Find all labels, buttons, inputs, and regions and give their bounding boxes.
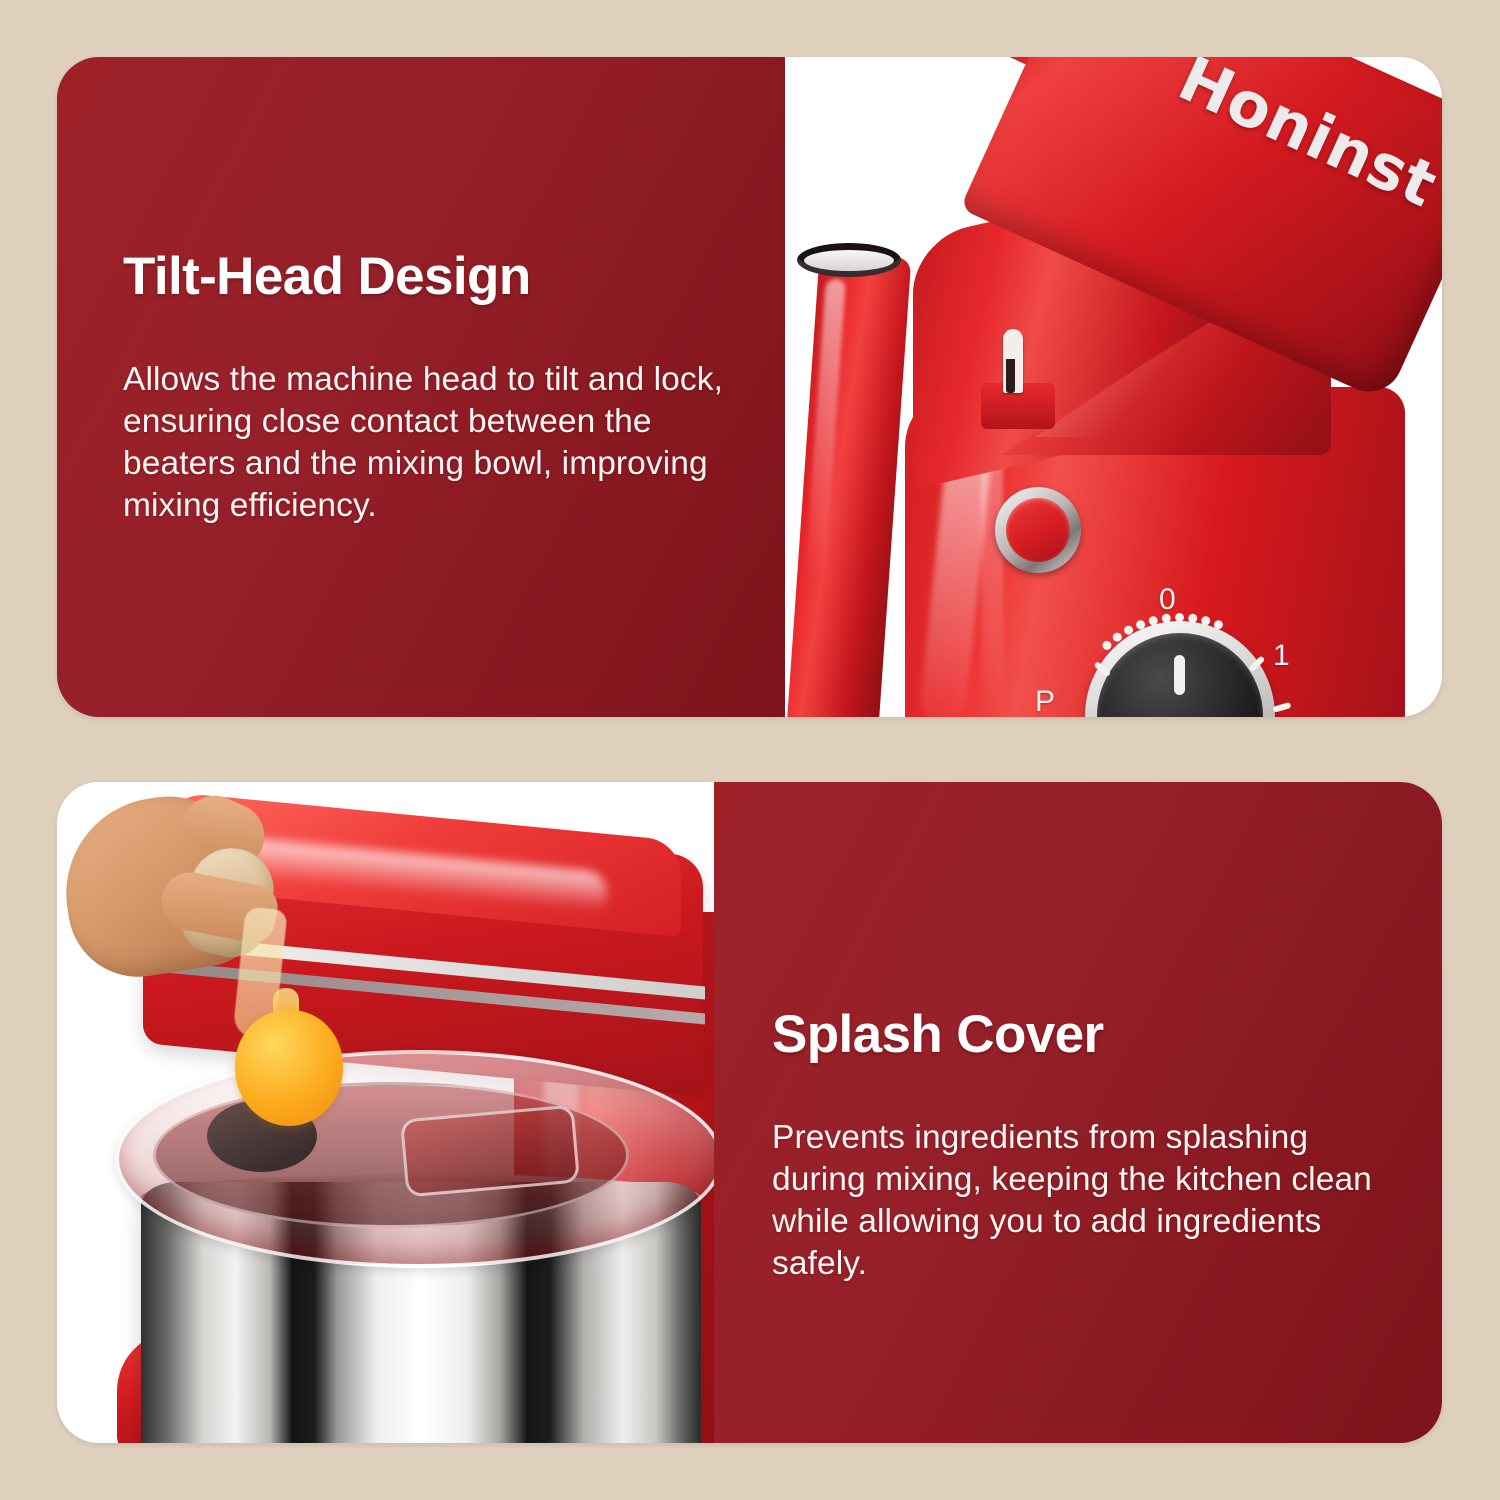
feature-panel-tilt-head: Tilt-Head Design Allows the machine head… bbox=[57, 57, 1442, 717]
dial-tick bbox=[1272, 702, 1291, 713]
ingredient-feed-chute bbox=[400, 1105, 580, 1198]
tilt-head-photo: Honinst bbox=[785, 57, 1442, 717]
tilt-head-copy-side: Tilt-Head Design Allows the machine head… bbox=[57, 57, 785, 717]
stand-mixer-bowl-illustration bbox=[57, 782, 714, 1443]
dial-label-p: P bbox=[1035, 685, 1055, 717]
splash-cover-body: Prevents ingredients from splashing duri… bbox=[772, 1117, 1402, 1286]
egg-yolk bbox=[235, 1010, 343, 1126]
stand-mixer-tilt-illustration: Honinst bbox=[785, 57, 1442, 717]
speed-dial-assembly[interactable]: P 0 1 2 bbox=[1033, 597, 1333, 717]
release-button[interactable] bbox=[995, 487, 1081, 573]
tilt-head-title: Tilt-Head Design bbox=[123, 249, 745, 305]
tilt-head-body: Allows the machine head to tilt and lock… bbox=[123, 359, 745, 528]
splash-cover-title: Splash Cover bbox=[772, 1007, 1402, 1063]
dial-label-1: 1 bbox=[1273, 639, 1290, 673]
lock-latch-icon bbox=[1003, 329, 1023, 393]
speed-dial-pointer bbox=[1174, 655, 1185, 695]
splash-cover-photo bbox=[57, 782, 714, 1443]
feature-board: Tilt-Head Design Allows the machine head… bbox=[0, 0, 1500, 1500]
mixer-rear-bowl-rim bbox=[797, 243, 901, 277]
dial-label-0: 0 bbox=[1159, 583, 1176, 617]
feature-panel-splash-cover: Splash Cover Prevents ingredients from s… bbox=[57, 782, 1442, 1443]
tilt-head-copy-block: Tilt-Head Design Allows the machine head… bbox=[123, 249, 745, 527]
mixer-body-edge bbox=[981, 449, 1003, 717]
mixer-rear-bowl bbox=[787, 257, 912, 717]
splash-cover-copy-block: Splash Cover Prevents ingredients from s… bbox=[772, 1007, 1402, 1285]
splash-cover-copy-side: Splash Cover Prevents ingredients from s… bbox=[714, 782, 1442, 1443]
